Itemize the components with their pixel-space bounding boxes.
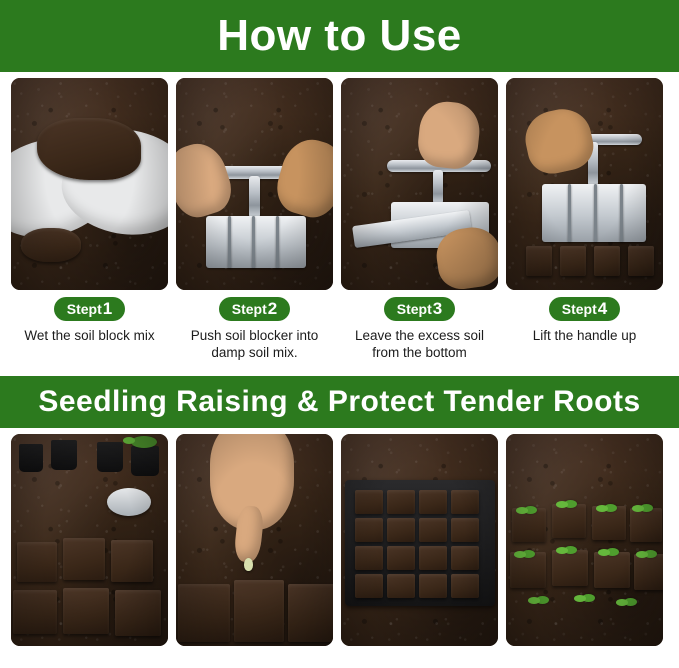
step-1-badge-number: 1 (103, 300, 112, 317)
step-4-badge-word: Stept (562, 302, 597, 316)
photo-vignette (506, 78, 663, 290)
steps-row: Stept1 Wet the soil block mix (0, 72, 679, 362)
step-1-caption: Wet the soil block mix (11, 328, 168, 345)
step-1-label-row: Stept1 (11, 297, 168, 321)
step-4-photo (506, 78, 663, 290)
step-3-photo (341, 78, 498, 290)
photo-vignette (11, 434, 168, 646)
photo-vignette (341, 78, 498, 290)
bottom-photo-4 (506, 434, 663, 646)
top-banner: How to Use (0, 0, 679, 72)
photo-vignette (506, 434, 663, 646)
step-2-label-row: Stept2 (176, 297, 333, 321)
step-3-badge-word: Stept (397, 302, 432, 316)
bottom-photo-1 (11, 434, 168, 646)
step-2-badge-word: Stept (232, 302, 267, 316)
step-cell-3: Stept3 Leave the excess soil from the bo… (341, 78, 498, 362)
step-3-badge: Stept3 (384, 297, 455, 321)
photo-vignette (341, 434, 498, 646)
how-to-use-infographic: How to Use Stept1 Wet the soil block mix (0, 0, 679, 668)
photo-vignette (176, 78, 333, 290)
step-4-label-row: Stept4 (506, 297, 663, 321)
step-cell-4: Stept4 Lift the handle up (506, 78, 663, 362)
step-4-caption: Lift the handle up (506, 328, 663, 345)
top-banner-title: How to Use (217, 14, 462, 58)
step-1-photo (11, 78, 168, 290)
photo-vignette (11, 78, 168, 290)
bottom-photo-2 (176, 434, 333, 646)
step-cell-2: Stept2 Push soil blocker into damp soil … (176, 78, 333, 362)
step-2-badge-number: 2 (268, 300, 277, 317)
step-2-badge: Stept2 (219, 297, 290, 321)
mid-banner-title: Seedling Raising & Protect Tender Roots (38, 387, 640, 417)
step-1-badge-word: Stept (67, 302, 102, 316)
step-2-caption: Push soil blocker into damp soil mix. (176, 328, 333, 362)
step-3-label-row: Stept3 (341, 297, 498, 321)
step-3-badge-number: 3 (433, 300, 442, 317)
bottom-photo-row (0, 428, 679, 646)
mid-banner: Seedling Raising & Protect Tender Roots (0, 376, 679, 428)
step-cell-1: Stept1 Wet the soil block mix (11, 78, 168, 362)
step-4-badge-number: 4 (598, 300, 607, 317)
step-3-caption: Leave the excess soil from the bottom (341, 328, 498, 362)
step-4-badge: Stept4 (549, 297, 620, 321)
photo-vignette (176, 434, 333, 646)
step-2-photo (176, 78, 333, 290)
step-1-badge: Stept1 (54, 297, 125, 321)
bottom-photo-3 (341, 434, 498, 646)
